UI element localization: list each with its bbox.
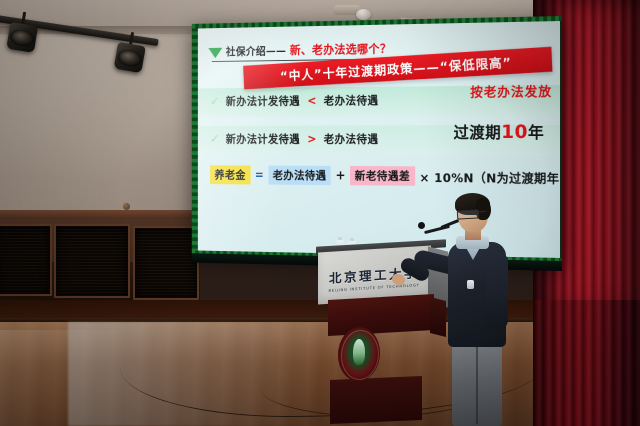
auditorium-scene: 社保介绍—— 新、老办法选哪个？ “中人”十年过渡期政策——“保低限高” 按老办… bbox=[0, 0, 640, 426]
formula-plus: + bbox=[336, 168, 346, 182]
acoustic-panel-icon bbox=[54, 224, 130, 298]
floor-reflection bbox=[0, 330, 130, 426]
bullet-operator: > bbox=[306, 132, 317, 145]
slide-bullet: ✓ 新办法计发待遇 > 老办法待遇 bbox=[210, 131, 378, 146]
pension-formula: 养老金 = 老办法待遇 + 新老待遇差 × 10%N（N为过渡期年 bbox=[210, 165, 559, 187]
period-label: 过渡期 bbox=[454, 123, 502, 142]
check-icon: ✓ bbox=[210, 133, 220, 145]
formula-term-old-benefit: 老办法待遇 bbox=[268, 166, 331, 185]
ceiling-dome-light-icon bbox=[356, 9, 371, 20]
presenter-right-arm bbox=[486, 252, 508, 330]
bullet-operator: < bbox=[306, 94, 317, 107]
check-icon: ✓ bbox=[210, 95, 220, 107]
bullet-right-term: 老办法待遇 bbox=[324, 93, 379, 109]
acoustic-panel-icon bbox=[133, 226, 199, 300]
slide-title-prefix: 社保介绍—— bbox=[226, 42, 286, 58]
wall-trim bbox=[0, 210, 200, 219]
stage-curtain-lower bbox=[533, 300, 640, 426]
bullet-left-term: 新办法计发待遇 bbox=[226, 93, 300, 109]
slide-title: 社保介绍—— 新、老办法选哪个？ bbox=[208, 40, 391, 59]
lectern-body bbox=[328, 294, 434, 336]
presenter-leg-seam bbox=[476, 346, 478, 424]
triangle-bullet-icon bbox=[208, 47, 222, 58]
lectern-base bbox=[330, 376, 422, 424]
bullet-left-term: 新办法计发待遇 bbox=[226, 131, 300, 146]
slide-title-question: 新、老办法选哪个？ bbox=[290, 40, 391, 58]
period-unit: 年 bbox=[528, 123, 544, 142]
slide-bullet: ✓ 新办法计发待遇 < 老办法待遇 bbox=[210, 93, 378, 109]
right-red-note: 按老办法发放 bbox=[470, 81, 552, 101]
glasses-icon bbox=[457, 209, 479, 219]
presenter bbox=[440, 196, 540, 426]
bullet-right-term: 老办法待遇 bbox=[324, 131, 379, 146]
microphone-icon bbox=[418, 222, 425, 229]
formula-term-difference: 新老待遇差 bbox=[350, 166, 415, 186]
formula-term-pension: 养老金 bbox=[210, 165, 250, 184]
acoustic-panel-icon bbox=[0, 224, 52, 296]
wall-knob bbox=[123, 203, 130, 210]
presenter-badge bbox=[467, 280, 474, 289]
transition-period-note: 过渡期10年 bbox=[454, 119, 545, 143]
period-number: 10 bbox=[501, 121, 528, 143]
formula-equals: = bbox=[255, 168, 264, 181]
formula-tail: × 10%N（N为过渡期年 bbox=[420, 167, 560, 187]
